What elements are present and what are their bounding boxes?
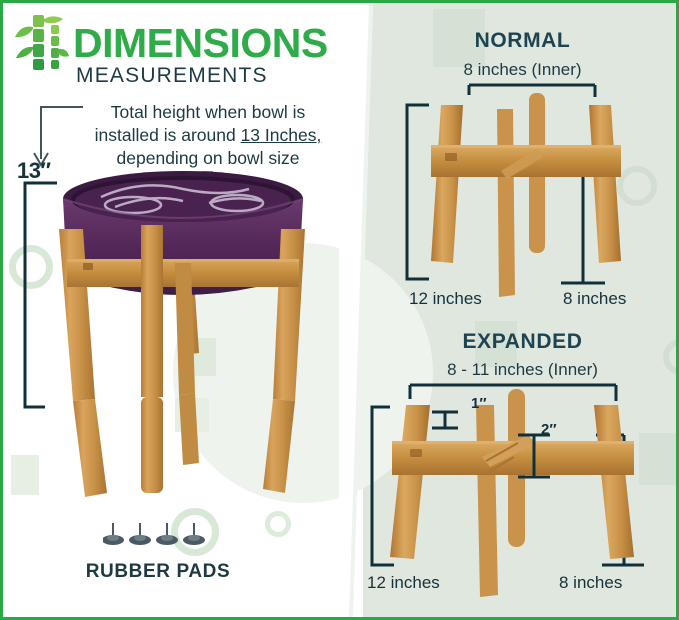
normal-width-label: 12 inches xyxy=(409,289,482,309)
rubber-pad-icon xyxy=(103,523,124,545)
expanded-width-label: 12 inches xyxy=(367,573,440,593)
expanded-height-label: 8 inches xyxy=(559,573,622,593)
callout-line-2-underlined: 13 Inches, xyxy=(241,125,322,145)
expanded-rail-tick-label: 2″ xyxy=(541,421,557,438)
callout-line-2-prefix: installed is around xyxy=(95,125,241,145)
section-subtitle-normal: 8 inches (Inner) xyxy=(363,60,679,80)
infographic-root: DIMENSIONS MEASUREMENTS Total height whe… xyxy=(0,0,679,620)
bamboo-stalks-icon xyxy=(13,13,69,71)
expanded-gap-tick-label: 1″ xyxy=(471,395,487,412)
rubber-pad-icon xyxy=(129,523,151,545)
normal-height-label: 8 inches xyxy=(563,289,626,309)
page-title: DIMENSIONS xyxy=(73,23,328,64)
rubber-pad-icon-group xyxy=(103,523,213,553)
height-bracket-13in xyxy=(21,181,59,409)
bamboo-stand-normal-diagram xyxy=(383,83,673,313)
page-subtitle: MEASUREMENTS xyxy=(76,65,268,86)
rubber-pad-icon xyxy=(156,523,178,545)
decorative-ring xyxy=(265,511,291,537)
callout-text: Total height when bowl is installed is a… xyxy=(69,101,347,170)
rubber-pads-label: RUBBER PADS xyxy=(63,561,253,583)
callout-line-1: Total height when bowl is xyxy=(111,102,306,122)
product-illustration-bowl-on-stand xyxy=(23,163,343,508)
section-subtitle-expanded: 8 - 11 inches (Inner) xyxy=(363,360,679,380)
callout-line-3: depending on bowl size xyxy=(117,148,300,168)
section-title-expanded: EXPANDED xyxy=(363,330,679,354)
section-title-normal: NORMAL xyxy=(363,29,679,53)
rubber-pad-icon xyxy=(183,523,205,545)
